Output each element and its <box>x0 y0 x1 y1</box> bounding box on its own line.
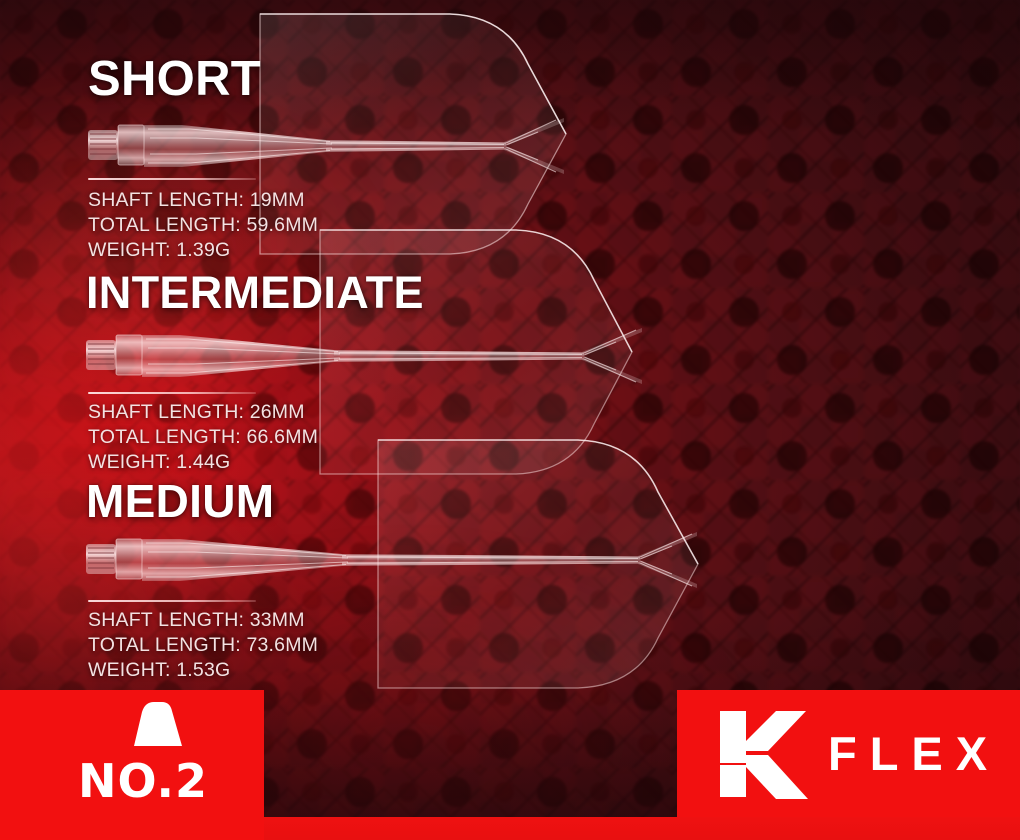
spec-weight-intermediate: WEIGHT: 1.44G <box>88 450 318 475</box>
spec-shaft-length-short: SHAFT LENGTH: 19MM <box>88 188 318 213</box>
no2-label: NO.2 <box>48 758 238 804</box>
spec-weight-short: WEIGHT: 1.39G <box>88 238 318 263</box>
product-specs-medium: SHAFT LENGTH: 33MM TOTAL LENGTH: 73.6MM … <box>88 608 318 683</box>
spec-shaft-length-medium: SHAFT LENGTH: 33MM <box>88 608 318 633</box>
product-title-medium: MEDIUM <box>86 478 274 524</box>
bottom-red-strip <box>264 817 1020 840</box>
spec-total-length-intermediate: TOTAL LENGTH: 66.6MM <box>88 425 318 450</box>
product-infographic: SHORT <box>0 0 1020 840</box>
kflex-logo: FLEX <box>716 706 1000 800</box>
product-specs-intermediate: SHAFT LENGTH: 26MM TOTAL LENGTH: 66.6MM … <box>88 400 318 475</box>
divider-short <box>88 178 256 180</box>
spec-weight-medium: WEIGHT: 1.53G <box>88 658 318 683</box>
kflex-label: FLEX <box>828 730 1000 777</box>
product-title-short: SHORT <box>88 55 261 104</box>
k-mark-icon <box>716 707 808 799</box>
spec-total-length-short: TOTAL LENGTH: 59.6MM <box>88 213 318 238</box>
divider-intermediate <box>88 392 256 394</box>
spec-total-length-medium: TOTAL LENGTH: 73.6MM <box>88 633 318 658</box>
product-title-intermediate: INTERMEDIATE <box>86 270 424 315</box>
spec-shaft-length-intermediate: SHAFT LENGTH: 26MM <box>88 400 318 425</box>
divider-medium <box>88 600 256 602</box>
dart-flight-icon <box>112 702 186 746</box>
product-specs-short: SHAFT LENGTH: 19MM TOTAL LENGTH: 59.6MM … <box>88 188 318 263</box>
no2-logo: NO.2 <box>48 702 238 808</box>
